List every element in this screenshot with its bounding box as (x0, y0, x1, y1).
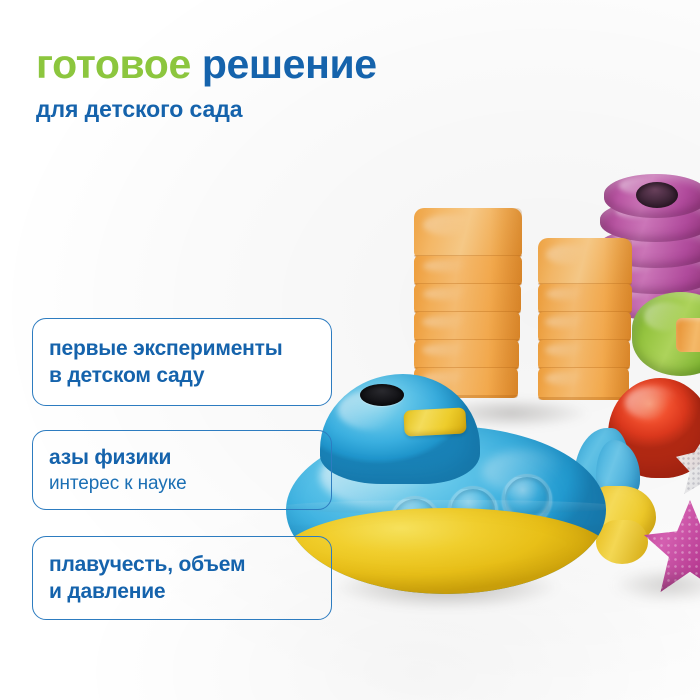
feature-card-title: азы физики (49, 444, 315, 471)
feature-card-title-line2: в детском саду (49, 362, 315, 389)
feature-card[interactable]: азы физики интерес к науке (32, 430, 332, 510)
feature-card-list: первые эксперименты в детском саду азы ф… (0, 0, 700, 700)
feature-card-title-line2: и давление (49, 578, 315, 605)
feature-card[interactable]: плавучесть, объем и давление (32, 536, 332, 620)
feature-card-title: плавучесть, объем (49, 551, 315, 578)
poster-canvas: готовое решение для детского сада первые… (0, 0, 700, 700)
feature-card[interactable]: первые эксперименты в детском саду (32, 318, 332, 406)
feature-card-title: первые эксперименты (49, 335, 315, 362)
feature-card-subtitle: интерес к науке (49, 471, 315, 497)
